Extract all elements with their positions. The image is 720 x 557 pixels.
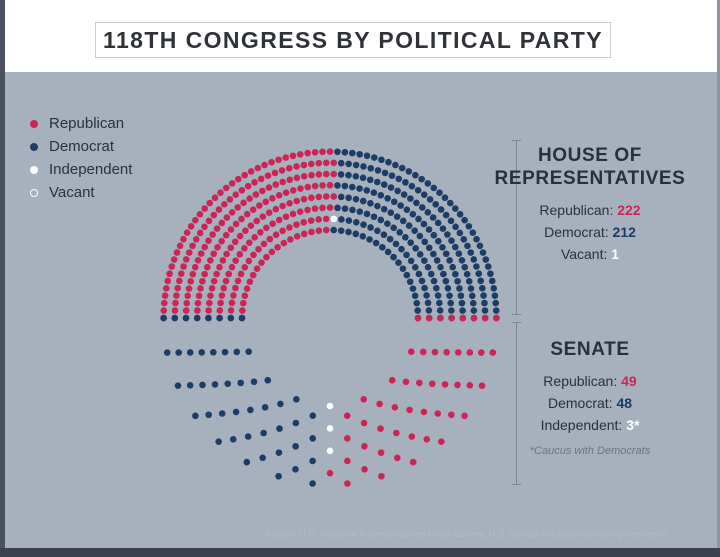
house-seat-republican xyxy=(217,189,224,196)
house-seat-republican xyxy=(214,244,221,251)
house-seat-republican xyxy=(308,161,315,168)
house-seat-republican xyxy=(260,213,267,220)
house-stat-democrat: Democrat: 212 xyxy=(470,221,710,243)
house-seat-republican xyxy=(233,221,240,228)
house-seat-democrat xyxy=(490,285,497,292)
house-seat-democrat xyxy=(388,209,395,216)
senate-stat-independent-label: Independent: xyxy=(541,417,623,433)
senate-seat-democrat xyxy=(164,349,171,356)
house-seat-democrat xyxy=(443,278,450,285)
house-title-line1: HOUSE OF xyxy=(470,144,710,167)
house-seat-republican xyxy=(262,198,269,205)
house-seat-republican xyxy=(279,179,286,186)
house-seat-republican xyxy=(229,209,236,216)
senate-seat-republican xyxy=(360,396,367,403)
senate-seat-republican xyxy=(420,349,427,356)
house-seat-republican xyxy=(330,193,337,200)
house-seat-democrat xyxy=(421,257,428,264)
house-seat-democrat xyxy=(428,271,435,278)
house-seat-democrat xyxy=(399,165,406,172)
house-seat-republican xyxy=(319,148,326,155)
house-seat-republican xyxy=(244,211,251,218)
house-seat-republican xyxy=(210,250,217,257)
senate-seat-independent xyxy=(327,448,334,455)
senate-seat-democrat xyxy=(292,466,299,473)
house-seat-democrat xyxy=(392,162,399,169)
house-seat-democrat xyxy=(363,187,370,194)
house-seat-democrat xyxy=(382,170,389,177)
house-seat-republican xyxy=(229,264,236,271)
house-seat-democrat xyxy=(342,183,349,190)
senate-seat-republican xyxy=(361,443,368,450)
senate-seat-democrat xyxy=(259,455,266,462)
house-seat-republican xyxy=(225,271,232,278)
house-seat-democrat xyxy=(411,227,418,234)
senate-seat-democrat xyxy=(275,473,282,480)
house-seat-republican xyxy=(323,171,330,178)
house-seat-republican xyxy=(207,257,214,264)
house-seat-democrat xyxy=(396,229,403,236)
house-seat-republican xyxy=(206,218,213,225)
senate-seat-democrat xyxy=(245,348,252,355)
house-seat-republican xyxy=(235,176,242,183)
house-seat-republican xyxy=(248,222,255,229)
house-seat-democrat xyxy=(407,195,414,202)
house-seat-republican xyxy=(274,244,281,251)
house-seat-republican xyxy=(286,224,293,231)
house-seat-democrat xyxy=(489,278,496,285)
house-seat-republican xyxy=(290,211,297,218)
house-seat-republican xyxy=(171,256,178,263)
senate-seat-republican xyxy=(443,349,450,356)
house-seat-democrat xyxy=(425,264,432,271)
house-seat-democrat xyxy=(377,217,384,224)
house-seat-republican xyxy=(263,254,270,261)
house-seat-republican xyxy=(201,244,208,251)
house-seat-republican xyxy=(237,251,244,258)
house-seat-republican xyxy=(283,213,290,220)
house-seat-republican xyxy=(297,151,304,158)
house-seat-republican xyxy=(216,264,223,271)
source-attribution: Source: U.S. House of Representatives Pr… xyxy=(265,529,667,539)
legend-label-democrat: Democrat xyxy=(49,138,114,155)
house-seat-republican xyxy=(251,234,258,241)
house-seat-republican xyxy=(327,204,334,211)
house-seat-democrat xyxy=(469,293,476,300)
house-seat-republican xyxy=(174,249,181,256)
house-seat-republican xyxy=(286,165,293,172)
senate-seat-republican xyxy=(416,380,423,387)
house-seat-republican xyxy=(315,160,322,167)
house-seat-republican xyxy=(218,238,225,245)
house-seat-republican xyxy=(266,184,273,191)
senate-seat-democrat xyxy=(205,315,212,322)
house-seat-republican xyxy=(229,180,236,187)
house-seat-republican xyxy=(242,227,249,234)
senate-seat-democrat xyxy=(175,349,182,356)
house-seat-democrat xyxy=(431,278,438,285)
house-seat-republican xyxy=(240,200,247,207)
legend-dot-vacant xyxy=(30,189,38,197)
senate-seat-republican xyxy=(415,315,422,322)
legend-dot-republican xyxy=(30,120,38,128)
house-seat-republican xyxy=(237,233,244,240)
house-seat-democrat xyxy=(334,148,341,155)
senate-seat-democrat xyxy=(199,382,206,389)
house-seat-democrat xyxy=(338,171,345,178)
house-seat-democrat xyxy=(435,292,442,299)
senate-seat-republican xyxy=(448,411,455,418)
house-seat-republican xyxy=(197,211,204,218)
house-seat-republican xyxy=(245,183,252,190)
house-seat-democrat xyxy=(468,285,475,292)
senate-footnote: *Caucus with Democrats xyxy=(470,445,710,457)
house-seat-republican xyxy=(263,225,270,232)
house-seat-republican xyxy=(301,173,308,180)
senate-seat-republican xyxy=(426,315,433,322)
senate-seat-democrat xyxy=(309,480,316,487)
senate-seat-republican xyxy=(421,409,428,416)
house-seat-republican xyxy=(286,200,293,207)
senate-seat-republican xyxy=(460,315,467,322)
house-seat-democrat xyxy=(460,236,467,243)
senate-panel: SENATE Republican: 49 Democrat: 48 Indep… xyxy=(470,338,710,457)
senate-seat-democrat xyxy=(247,407,254,414)
senate-seat-democrat xyxy=(216,315,223,322)
house-seat-republican xyxy=(232,285,239,292)
senate-seat-republican xyxy=(361,466,368,473)
senate-seat-republican xyxy=(482,315,489,322)
senate-stat-democrat-value: 48 xyxy=(616,395,632,411)
senate-stat-republican-value: 49 xyxy=(621,373,637,389)
house-seat-republican xyxy=(308,229,315,236)
house-seat-republican xyxy=(168,263,175,270)
house-seat-republican xyxy=(254,165,261,172)
house-seat-democrat xyxy=(410,285,417,292)
house-seat-republican xyxy=(290,187,297,194)
senate-seat-democrat xyxy=(228,315,235,322)
house-seat-republican xyxy=(180,263,187,270)
house-seat-republican xyxy=(258,259,265,266)
legend: Republican Democrat Independent Vacant xyxy=(30,112,132,204)
house-seat-democrat xyxy=(459,300,466,307)
house-seat-republican xyxy=(253,218,260,225)
house-seat-democrat xyxy=(438,206,445,213)
house-stat-vacant-value: 1 xyxy=(611,246,619,262)
house-seat-republican xyxy=(173,292,180,299)
house-seat-republican xyxy=(238,216,245,223)
house-seat-democrat xyxy=(461,264,468,271)
house-seat-democrat xyxy=(378,156,385,163)
senate-seat-democrat xyxy=(293,420,300,427)
legend-dot-independent xyxy=(30,166,38,174)
house-seat-republican xyxy=(261,162,268,169)
house-seat-democrat xyxy=(342,149,349,156)
house-seat-republican xyxy=(178,270,185,277)
house-seat-democrat xyxy=(470,300,477,307)
house-seat-republican xyxy=(275,156,282,163)
house-seat-democrat xyxy=(459,257,466,264)
house-seat-democrat xyxy=(479,285,486,292)
house-seat-democrat xyxy=(444,231,451,238)
house-seat-republican xyxy=(259,188,266,195)
page-title: 118TH CONGRESS BY POLITICAL PARTY xyxy=(103,27,603,54)
house-seat-democrat xyxy=(349,150,356,157)
house-seat-democrat xyxy=(390,225,397,232)
infographic-canvas: 118TH CONGRESS BY POLITICAL PARTY Republ… xyxy=(0,0,720,557)
house-seat-democrat xyxy=(408,258,415,265)
house-seat-republican xyxy=(162,292,169,299)
house-seat-republican xyxy=(241,172,248,179)
house-bracket-cap-bottom xyxy=(512,314,521,315)
house-seat-republican xyxy=(272,170,279,177)
house-seat-republican xyxy=(201,223,208,230)
house-seat-republican xyxy=(201,271,208,278)
senate-seat-republican xyxy=(394,455,401,462)
senate-seat-republican xyxy=(454,382,461,389)
senate-seat-democrat xyxy=(276,449,283,456)
house-seat-democrat xyxy=(378,192,385,199)
house-seat-republican xyxy=(183,256,190,263)
house-seat-republican xyxy=(257,229,264,236)
house-seat-republican xyxy=(315,194,322,201)
house-stat-republican-label: Republican: xyxy=(539,202,613,218)
house-seat-republican xyxy=(223,251,230,258)
legend-label-vacant: Vacant xyxy=(49,184,95,201)
house-seat-republican xyxy=(316,227,323,234)
senate-seat-republican xyxy=(442,381,449,388)
house-seat-republican xyxy=(323,227,330,234)
house-seat-democrat xyxy=(367,200,374,207)
house-seat-republican xyxy=(219,292,226,299)
senate-seat-republican xyxy=(409,433,416,440)
house-seat-republican xyxy=(319,205,326,212)
house-seat-democrat xyxy=(353,173,360,180)
house-seat-democrat xyxy=(345,229,352,236)
house-seat-republican xyxy=(163,285,170,292)
house-seat-democrat xyxy=(381,181,388,188)
house-seat-democrat xyxy=(415,187,422,194)
house-seat-republican xyxy=(220,285,227,292)
house-seat-republican xyxy=(160,307,167,314)
house-seat-republican xyxy=(251,179,258,186)
house-seat-democrat xyxy=(415,216,422,223)
house-seat-republican xyxy=(207,292,214,299)
senate-seat-republican xyxy=(344,480,351,487)
house-seat-democrat xyxy=(371,154,378,161)
house-seat-democrat xyxy=(400,265,407,272)
house-seat-democrat xyxy=(373,240,380,247)
house-seat-democrat xyxy=(412,172,419,179)
house-seat-democrat xyxy=(371,189,378,196)
body-area: Republican Democrat Independent Vacant xyxy=(0,72,720,557)
house-seat-democrat xyxy=(391,198,398,205)
house-seat-democrat xyxy=(390,254,397,261)
house-seat-republican xyxy=(239,307,246,314)
house-seat-republican xyxy=(204,264,211,271)
house-seat-democrat xyxy=(421,221,428,228)
house-seat-democrat xyxy=(402,234,409,241)
house-seat-democrat xyxy=(447,200,454,207)
house-seat-democrat xyxy=(449,264,456,271)
senate-seat-republican xyxy=(429,380,436,387)
house-seat-republican xyxy=(224,214,231,221)
house-seat-republican xyxy=(276,192,283,199)
house-seat-democrat xyxy=(439,244,446,251)
house-seat-democrat xyxy=(412,293,419,300)
senate-bracket-cap-top xyxy=(512,322,521,323)
house-seat-republican xyxy=(272,181,279,188)
house-seat-republican xyxy=(273,206,280,213)
legend-item-independent: Independent xyxy=(30,158,132,181)
senate-seat-democrat xyxy=(187,349,194,356)
house-seat-republican xyxy=(238,271,245,278)
house-seat-democrat xyxy=(492,300,499,307)
house-seat-republican xyxy=(164,278,171,285)
house-seat-republican xyxy=(234,204,241,211)
house-seat-republican xyxy=(255,246,262,253)
house-seat-democrat xyxy=(426,244,433,251)
house-seat-democrat xyxy=(440,225,447,232)
house-seat-democrat xyxy=(440,271,447,278)
house-seat-democrat xyxy=(452,271,459,278)
house-seat-republican xyxy=(219,220,226,227)
senate-seat-democrat xyxy=(230,436,237,443)
senate-seat-republican xyxy=(471,315,478,322)
house-stat-vacant: Vacant: 1 xyxy=(470,243,710,265)
house-seat-republican xyxy=(190,271,197,278)
house-seat-republican xyxy=(228,226,235,233)
house-seat-republican xyxy=(246,195,253,202)
senate-seat-republican xyxy=(344,412,351,419)
house-seat-republican xyxy=(184,229,191,236)
house-seat-democrat xyxy=(338,216,345,223)
house-seat-democrat xyxy=(338,160,345,167)
house-stat-democrat-label: Democrat: xyxy=(544,224,609,240)
house-seat-democrat xyxy=(436,189,443,196)
house-seat-republican xyxy=(294,175,301,182)
house-seat-democrat xyxy=(413,200,420,207)
senate-seat-democrat xyxy=(309,458,316,465)
house-seat-democrat xyxy=(381,231,388,238)
senate-stat-independent: Independent: 3* xyxy=(470,414,710,436)
house-seat-republican xyxy=(316,171,323,178)
house-seat-democrat xyxy=(360,198,367,205)
senate-seat-republican xyxy=(410,459,417,466)
senate-seat-democrat xyxy=(276,425,283,432)
senate-seat-democrat xyxy=(292,443,299,450)
house-seat-democrat xyxy=(385,159,392,166)
house-seat-democrat xyxy=(448,237,455,244)
house-seat-republican xyxy=(183,307,190,314)
senate-seat-republican xyxy=(344,435,351,442)
house-seat-republican xyxy=(220,257,227,264)
house-seat-democrat xyxy=(394,213,401,220)
house-seat-democrat xyxy=(425,300,432,307)
house-seat-democrat xyxy=(353,162,360,169)
house-seat-republican xyxy=(304,207,311,214)
house-seat-democrat xyxy=(398,246,405,253)
house-seat-republican xyxy=(276,217,283,224)
senate-stat-independent-value: 3* xyxy=(626,417,639,433)
senate-seat-democrat xyxy=(212,381,219,388)
house-seat-republican xyxy=(268,159,275,166)
header-band: 118TH CONGRESS BY POLITICAL PARTY xyxy=(0,0,720,72)
house-seat-republican xyxy=(312,183,319,190)
house-seat-democrat xyxy=(330,227,337,234)
house-seat-democrat xyxy=(395,259,402,266)
house-seat-republican xyxy=(176,278,183,285)
senate-seat-democrat xyxy=(175,382,182,389)
house-seat-democrat xyxy=(437,264,444,271)
house-seat-democrat xyxy=(446,292,453,299)
house-seat-republican xyxy=(194,307,201,314)
house-seat-republican xyxy=(198,250,205,257)
house-seat-republican xyxy=(244,285,251,292)
senate-panel-title: SENATE xyxy=(470,338,710,361)
house-seat-democrat xyxy=(459,307,466,314)
senate-seat-democrat xyxy=(198,349,205,356)
house-seat-democrat xyxy=(374,179,381,186)
house-seat-republican xyxy=(293,198,300,205)
house-seat-democrat xyxy=(421,285,428,292)
senate-seat-republican xyxy=(406,407,413,414)
house-seat-democrat xyxy=(360,163,367,170)
house-seat-republican xyxy=(304,184,311,191)
house-seat-democrat xyxy=(338,227,345,234)
house-seat-democrat xyxy=(393,241,400,248)
house-seat-democrat xyxy=(423,292,430,299)
house-seat-republican xyxy=(301,196,308,203)
senate-seat-republican xyxy=(344,458,351,465)
legend-item-republican: Republican xyxy=(30,112,132,135)
house-seat-democrat xyxy=(418,176,425,183)
house-seat-democrat xyxy=(385,249,392,256)
house-seat-democrat xyxy=(435,220,442,227)
house-seat-democrat xyxy=(401,191,408,198)
senate-seat-republican xyxy=(437,315,444,322)
house-seat-republican xyxy=(327,148,334,155)
senate-seat-republican xyxy=(392,404,399,411)
house-seat-republican xyxy=(301,231,308,238)
house-seat-republican xyxy=(308,172,315,179)
house-seat-democrat xyxy=(367,165,374,172)
house-seat-republican xyxy=(228,307,235,314)
house-seat-democrat xyxy=(456,250,463,257)
house-seat-republican xyxy=(247,278,254,285)
senate-seat-republican xyxy=(378,449,385,456)
house-seat-republican xyxy=(248,168,255,175)
house-seat-republican xyxy=(279,203,286,210)
house-seat-democrat xyxy=(394,188,401,195)
house-seat-democrat xyxy=(425,209,432,216)
house-seat-democrat xyxy=(353,196,360,203)
house-seat-democrat xyxy=(477,278,484,285)
house-seat-democrat xyxy=(458,292,465,299)
title-box: 118TH CONGRESS BY POLITICAL PARTY xyxy=(95,22,611,58)
senate-seat-republican xyxy=(393,430,400,437)
house-seat-democrat xyxy=(364,211,371,218)
house-seat-republican xyxy=(196,292,203,299)
senate-seat-republican xyxy=(378,473,385,480)
house-seat-republican xyxy=(221,201,228,208)
house-seat-democrat xyxy=(430,214,437,221)
house-seat-republican xyxy=(195,300,202,307)
senate-stat-democrat-label: Democrat: xyxy=(548,395,613,411)
senate-seat-democrat xyxy=(251,378,258,385)
senate-seat-republican xyxy=(327,470,334,477)
senate-seat-democrat xyxy=(219,410,226,417)
